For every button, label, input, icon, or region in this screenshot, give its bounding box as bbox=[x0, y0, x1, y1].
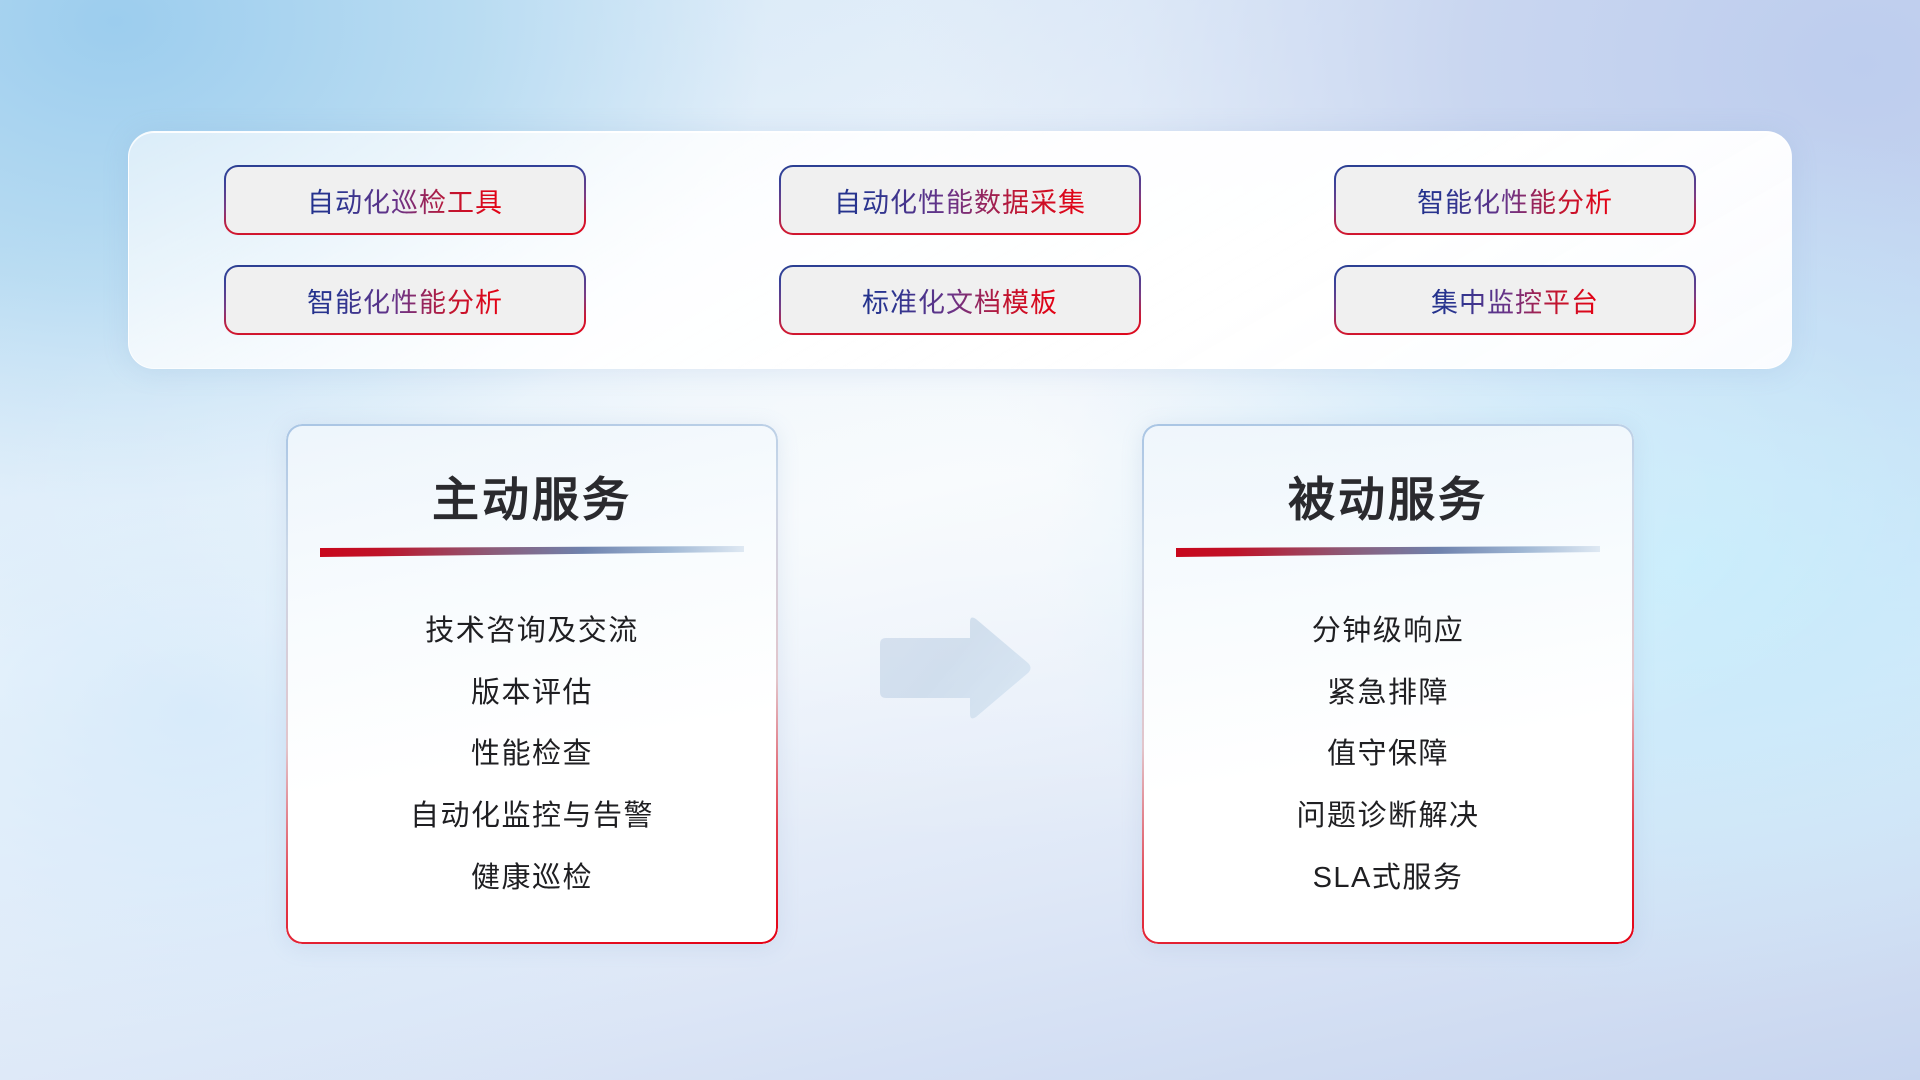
capability-pill-grid: 自动化巡检工具 自动化性能数据采集 智能化性能分析 智能化性能分析 标准化文档模… bbox=[129, 132, 1791, 368]
arrow-right-icon bbox=[874, 613, 1034, 723]
card-title: 被动服务 bbox=[1142, 461, 1634, 530]
service-card-reactive: 被动服务 分钟级响应 紧急排障 值守保障 问题诊断解决 SLA式服务 bbox=[1142, 424, 1634, 944]
capability-pill-label: 自动化巡检工具 bbox=[307, 181, 503, 220]
capability-pill-label: 标准化文档模板 bbox=[862, 281, 1058, 320]
capability-pill[interactable]: 智能化性能分析 bbox=[1336, 167, 1694, 233]
card-item: 版本评估 bbox=[471, 669, 593, 711]
card-item: 健康巡检 bbox=[471, 854, 593, 896]
card-item-list: 技术咨询及交流 版本评估 性能检查 自动化监控与告警 健康巡检 bbox=[286, 587, 778, 916]
card-divider bbox=[320, 546, 744, 557]
capability-pill[interactable]: 集中监控平台 bbox=[1336, 267, 1694, 333]
card-item: 分钟级响应 bbox=[1312, 607, 1465, 649]
card-divider bbox=[1176, 546, 1600, 557]
capability-pill[interactable]: 自动化巡检工具 bbox=[226, 167, 584, 233]
capability-panel: 自动化巡检工具 自动化性能数据采集 智能化性能分析 智能化性能分析 标准化文档模… bbox=[128, 131, 1792, 369]
card-title: 主动服务 bbox=[286, 461, 778, 530]
capability-pill[interactable]: 自动化性能数据采集 bbox=[781, 167, 1139, 233]
card-item: 性能检查 bbox=[471, 730, 593, 772]
card-item: 技术咨询及交流 bbox=[425, 607, 639, 649]
capability-pill[interactable]: 智能化性能分析 bbox=[226, 267, 584, 333]
card-item: SLA式服务 bbox=[1313, 854, 1464, 896]
card-item: 自动化监控与告警 bbox=[410, 792, 654, 834]
card-item: 紧急排障 bbox=[1327, 669, 1449, 711]
infographic-canvas: 自动化巡检工具 自动化性能数据采集 智能化性能分析 智能化性能分析 标准化文档模… bbox=[0, 0, 1920, 1080]
capability-pill-label: 集中监控平台 bbox=[1431, 281, 1599, 320]
capability-pill-label: 智能化性能分析 bbox=[1417, 181, 1613, 220]
capability-pill-label: 智能化性能分析 bbox=[307, 281, 503, 320]
card-item-list: 分钟级响应 紧急排障 值守保障 问题诊断解决 SLA式服务 bbox=[1142, 587, 1634, 916]
service-card-proactive: 主动服务 技术咨询及交流 版本评估 性能检查 自动化监控与告警 健康巡检 bbox=[286, 424, 778, 944]
card-item: 问题诊断解决 bbox=[1296, 792, 1479, 834]
card-item: 值守保障 bbox=[1327, 730, 1449, 772]
capability-pill[interactable]: 标准化文档模板 bbox=[781, 267, 1139, 333]
capability-pill-label: 自动化性能数据采集 bbox=[834, 181, 1086, 220]
